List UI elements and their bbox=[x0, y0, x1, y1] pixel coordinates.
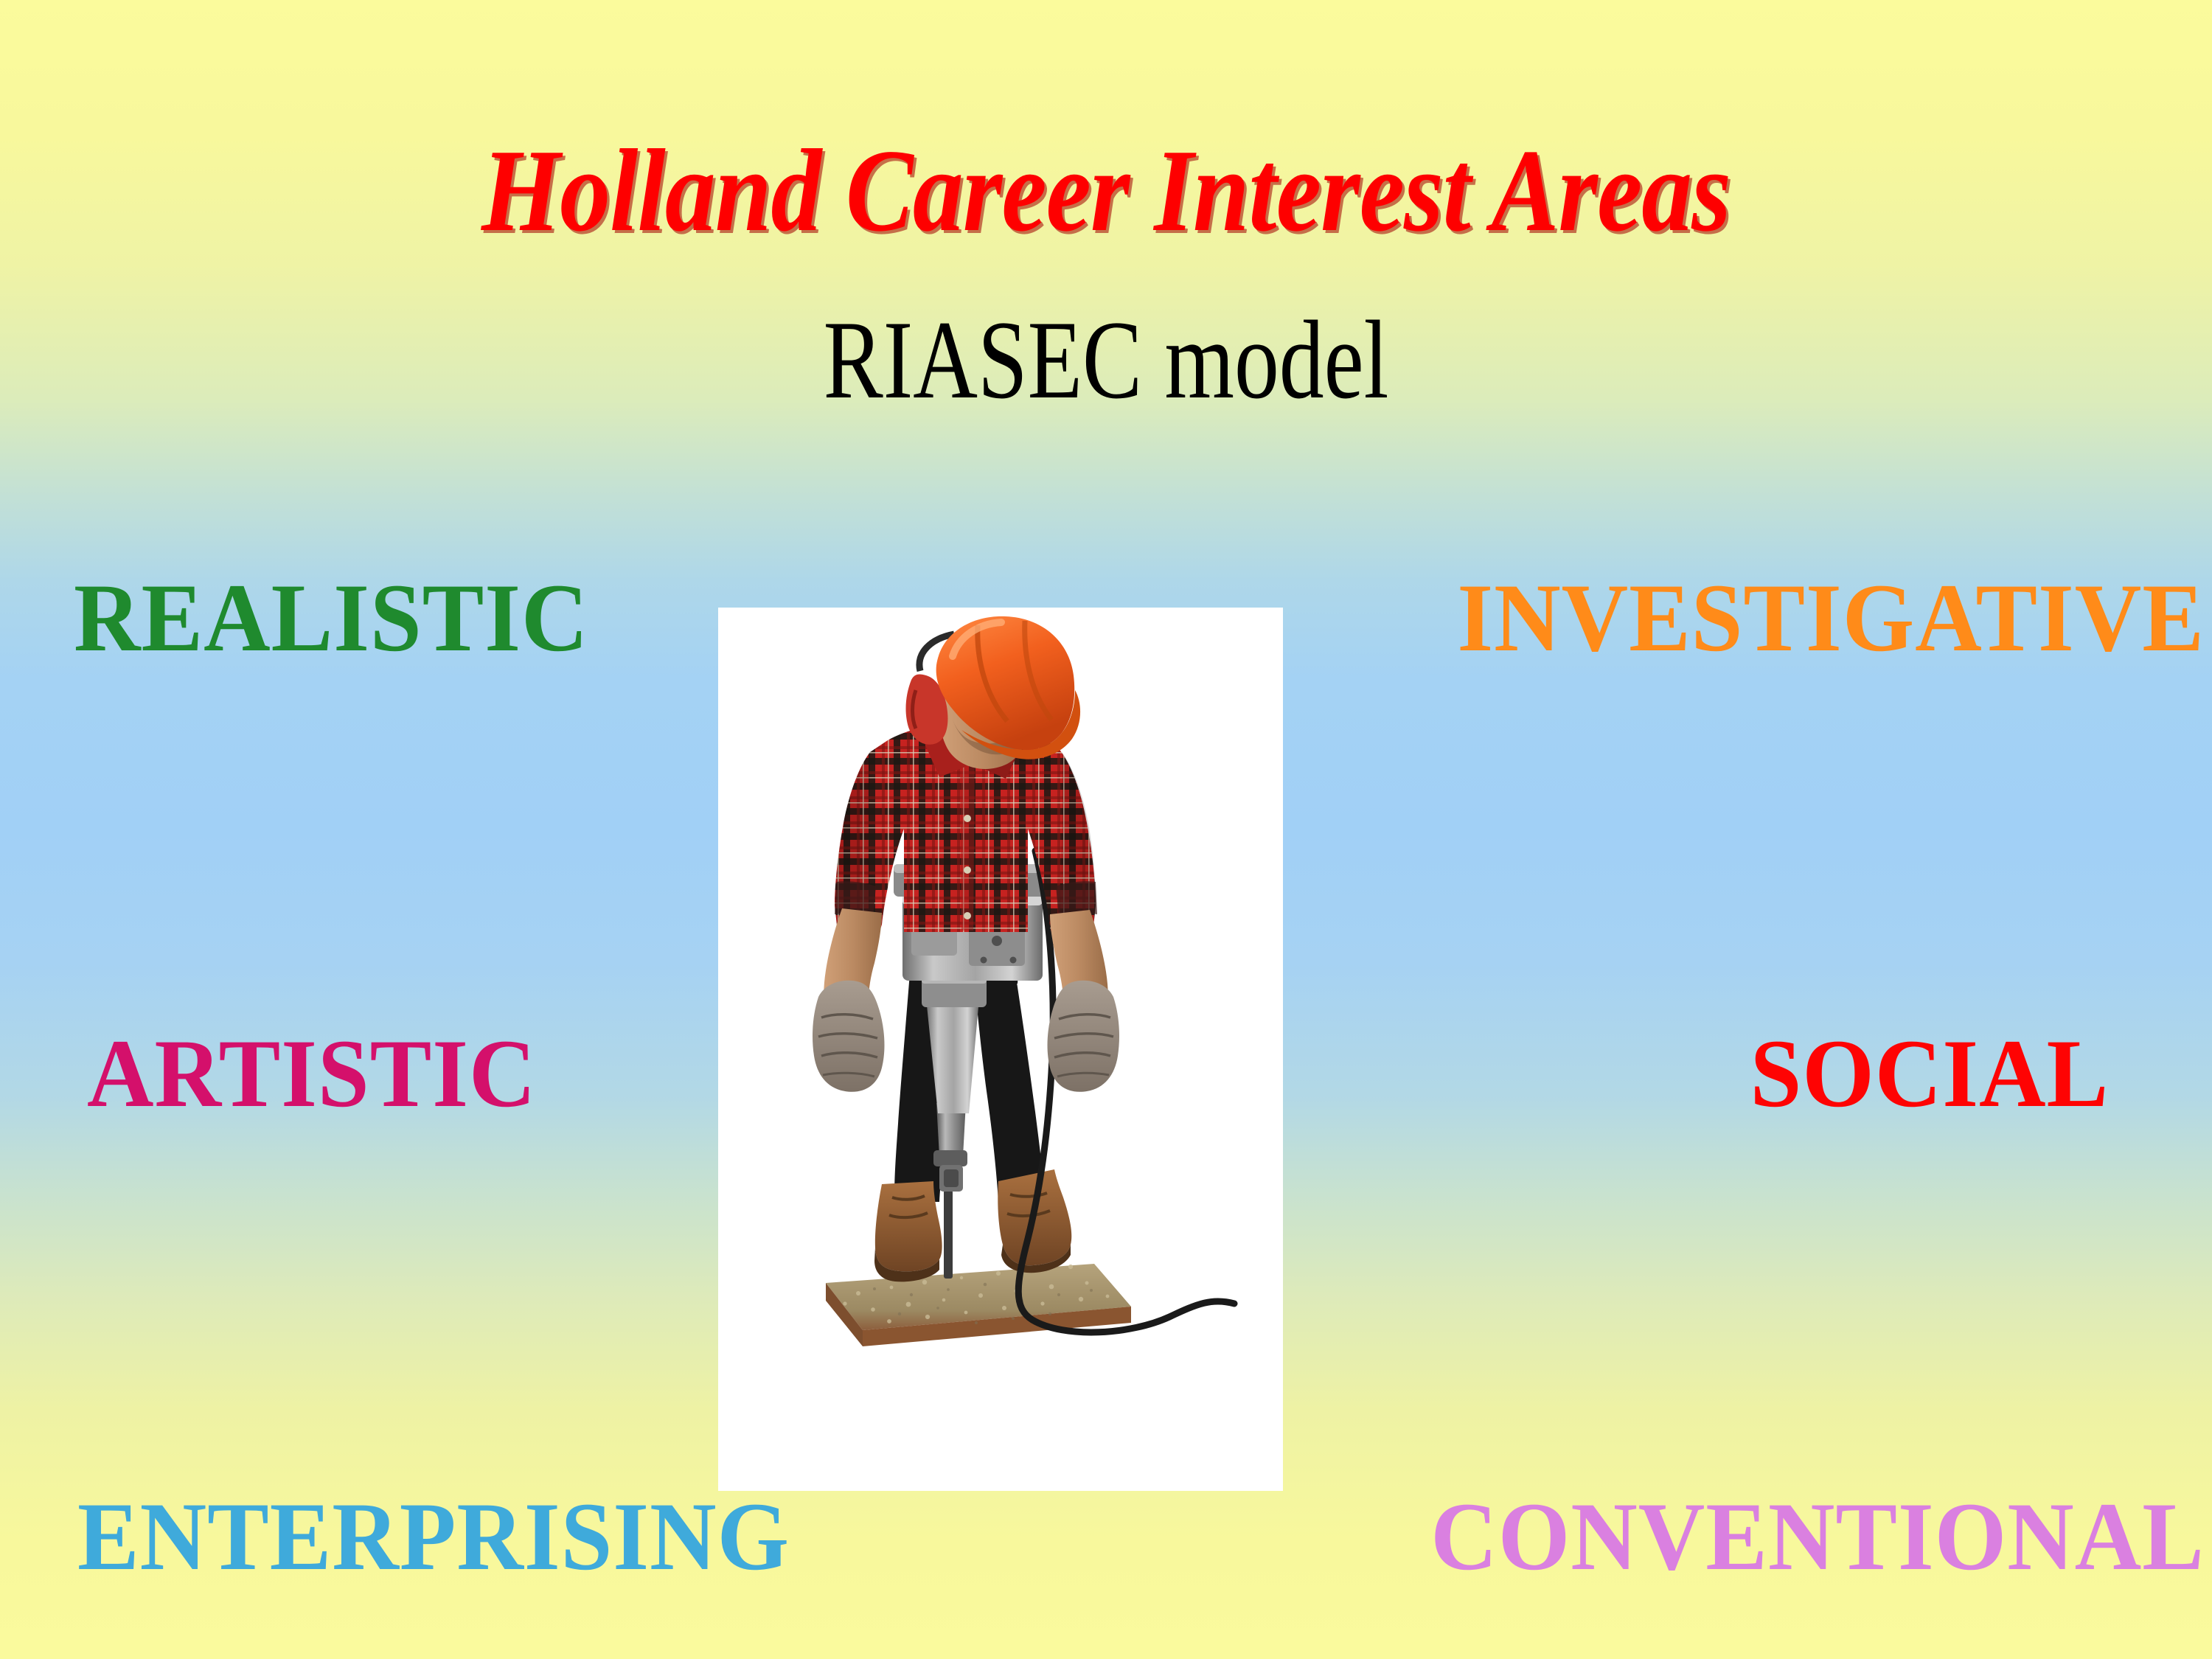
riasec-label-realistic: REALISTIC bbox=[74, 569, 589, 667]
riasec-label-artistic: ARTISTIC bbox=[87, 1025, 536, 1122]
riasec-label-investigative: INVESTIGATIVE bbox=[1457, 569, 2205, 667]
page-title: Holland Career Interest Areas bbox=[155, 131, 2057, 249]
riasec-label-social: SOCIAL bbox=[1750, 1025, 2109, 1122]
page-subtitle: RIASEC model bbox=[221, 304, 1991, 416]
riasec-label-conventional: CONVENTIONAL bbox=[1430, 1488, 2205, 1585]
worker-photo-card: Construction worker in orange hard hat a… bbox=[718, 608, 1283, 1491]
riasec-label-enterprising: ENTERPRISING bbox=[77, 1488, 790, 1585]
slide-canvas: Holland Career Interest Areas RIASEC mod… bbox=[0, 0, 2212, 1659]
construction-worker-image bbox=[718, 608, 1283, 1491]
